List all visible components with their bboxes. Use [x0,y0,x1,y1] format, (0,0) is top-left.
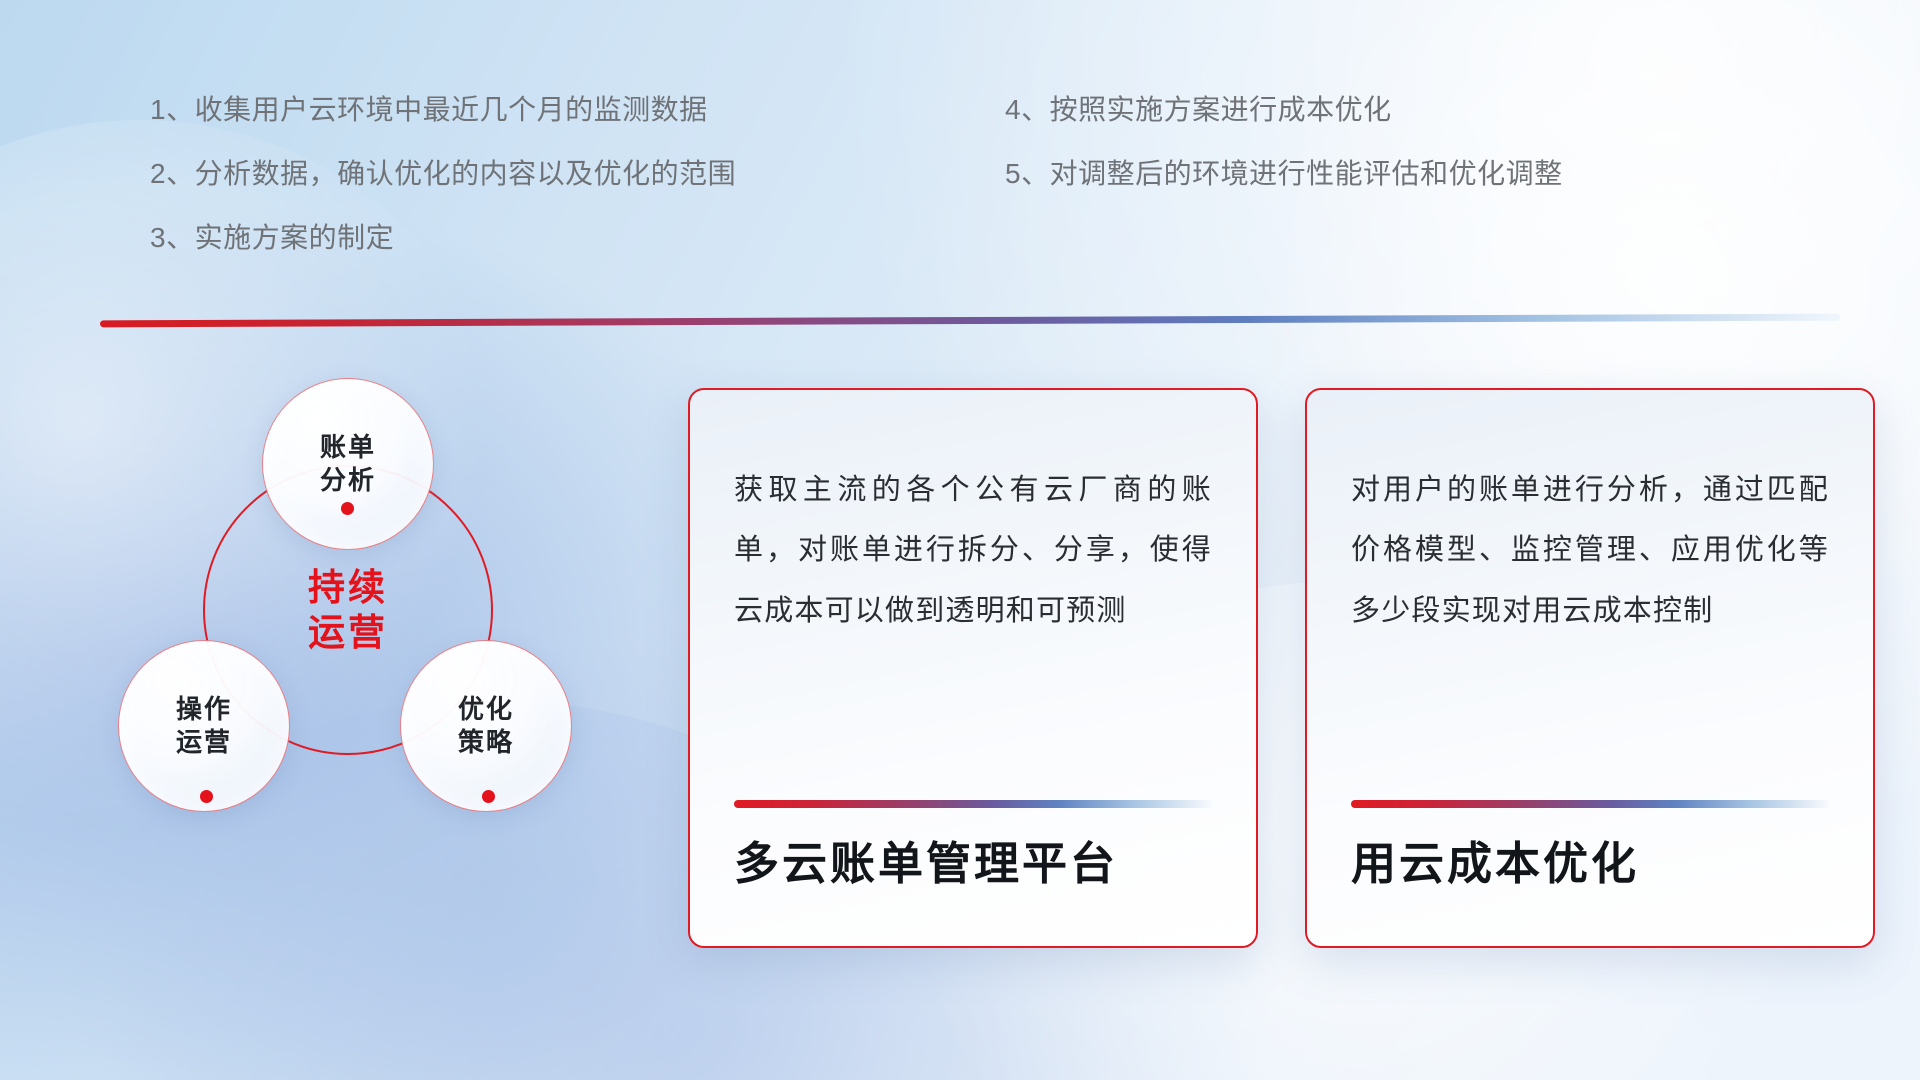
circle-diagram: 持续 运营 账单 分析 操作 运营 优化 策略 [100,360,640,920]
step-text: 分析数据，确认优化的内容以及优化的范围 [195,160,737,188]
slide-canvas: 1、 收集用户云环境中最近几个月的监测数据 2、 分析数据，确认优化的内容以及优… [0,0,1920,1080]
card-accent-rule [1351,800,1829,808]
feature-card-multicloud-billing[interactable]: 获取主流的各个公有云厂商的账单，对账单进行拆分、分享，使得云成本可以做到透明和可… [688,388,1258,948]
step-index: 4、 [1005,96,1050,124]
diagram-node-operations[interactable]: 操作 运营 [118,640,290,812]
card-accent-rule [734,800,1212,808]
step-index: 1、 [150,96,195,124]
step-item: 1、 收集用户云环境中最近几个月的监测数据 [150,96,736,160]
steps-list-left: 1、 收集用户云环境中最近几个月的监测数据 2、 分析数据，确认优化的内容以及优… [150,96,736,288]
node-label-line2: 策略 [458,727,514,758]
diagram-node-billing-analysis[interactable]: 账单 分析 [262,378,434,550]
step-text: 收集用户云环境中最近几个月的监测数据 [195,96,708,124]
card-body-text: 对用户的账单进行分析，通过匹配价格模型、监控管理、应用优化等多少段实现对用云成本… [1351,460,1829,641]
card-title: 用云成本优化 [1351,838,1829,906]
node-label-line1: 账单 [320,432,376,463]
diagram-node-optimization-strategy[interactable]: 优化 策略 [400,640,572,812]
diagram-connector-dot-top [341,502,354,515]
step-index: 2、 [150,160,195,188]
step-text: 实施方案的制定 [195,224,395,252]
diagram-connector-dot-right [482,790,495,803]
step-item: 3、 实施方案的制定 [150,224,736,288]
node-label-line2: 运营 [176,727,232,758]
step-item: 2、 分析数据，确认优化的内容以及优化的范围 [150,160,736,224]
diagram-connector-dot-left [200,790,213,803]
step-index: 5、 [1005,160,1050,188]
feature-card-cost-optimization[interactable]: 对用户的账单进行分析，通过匹配价格模型、监控管理、应用优化等多少段实现对用云成本… [1305,388,1875,948]
section-divider-rule [100,314,1840,328]
node-label-line1: 优化 [458,694,514,725]
step-text: 按照实施方案进行成本优化 [1050,96,1392,124]
step-text: 对调整后的环境进行性能评估和优化调整 [1050,160,1563,188]
steps-list-right: 4、 按照实施方案进行成本优化 5、 对调整后的环境进行性能评估和优化调整 [1005,96,1563,224]
node-label-line1: 操作 [176,694,232,725]
center-label-line1: 持续 [308,567,388,608]
center-label-line2: 运营 [308,612,388,653]
step-item: 4、 按照实施方案进行成本优化 [1005,96,1563,160]
step-index: 3、 [150,224,195,252]
card-body-text: 获取主流的各个公有云厂商的账单，对账单进行拆分、分享，使得云成本可以做到透明和可… [734,460,1212,641]
node-label-line2: 分析 [320,465,376,496]
card-title: 多云账单管理平台 [734,838,1212,906]
step-item: 5、 对调整后的环境进行性能评估和优化调整 [1005,160,1563,224]
